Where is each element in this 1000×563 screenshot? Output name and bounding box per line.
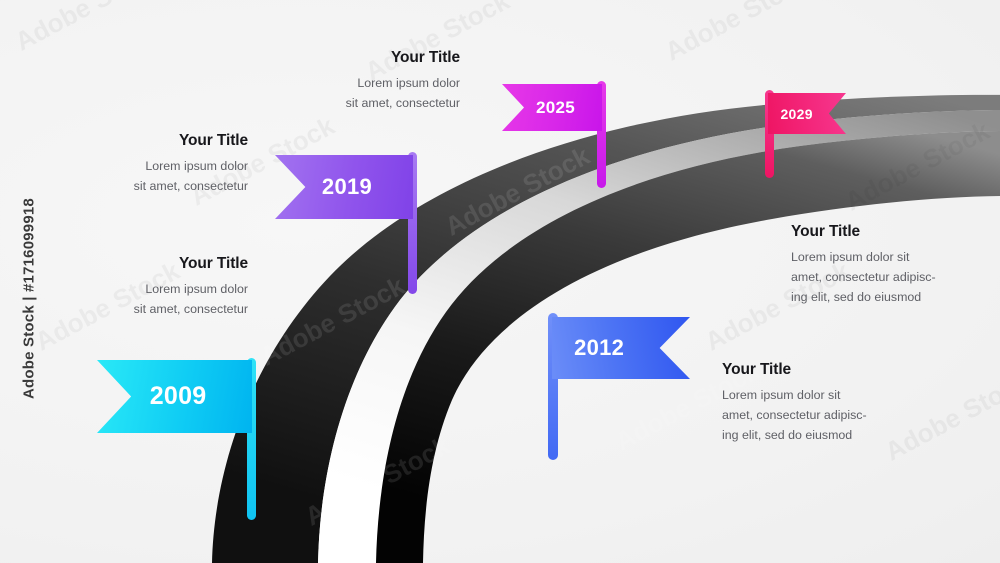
flag-year-2019: 2019 [322, 174, 372, 200]
caption-2009: Your Title Lorem ipsum dolor sit amet, c… [84, 254, 248, 320]
caption-body: Lorem ipsum dolor sit amet, consectetur [296, 74, 460, 113]
infographic-canvas: Adobe Stock Adobe Stock Adobe Stock Adob… [0, 0, 1000, 563]
caption-title: Your Title [722, 360, 922, 379]
flag-year-2029: 2029 [780, 106, 812, 122]
flag-year-2009: 2009 [150, 382, 207, 411]
caption-title: Your Title [791, 222, 991, 241]
caption-2019: Your Title Lorem ipsum dolor sit amet, c… [84, 131, 248, 197]
caption-title: Your Title [84, 254, 248, 273]
caption-2012: Your Title Lorem ipsum dolor sit amet, c… [722, 360, 922, 445]
caption-body: Lorem ipsum dolor sit amet, consectetur [84, 280, 248, 319]
caption-title: Your Title [84, 131, 248, 150]
caption-title: Your Title [296, 48, 460, 67]
caption-2029: Your Title Lorem ipsum dolor sit amet, c… [791, 222, 991, 307]
stock-id-watermark: Adobe Stock | #1716099918 [21, 169, 38, 429]
caption-2025: Your Title Lorem ipsum dolor sit amet, c… [296, 48, 460, 114]
flag-year-2025: 2025 [536, 98, 575, 118]
caption-body: Lorem ipsum dolor sit amet, consectetur [84, 157, 248, 196]
flag-year-2012: 2012 [574, 335, 624, 361]
caption-body: Lorem ipsum dolor sit amet, consectetur … [791, 248, 991, 307]
caption-body: Lorem ipsum dolor sit amet, consectetur … [722, 386, 922, 445]
